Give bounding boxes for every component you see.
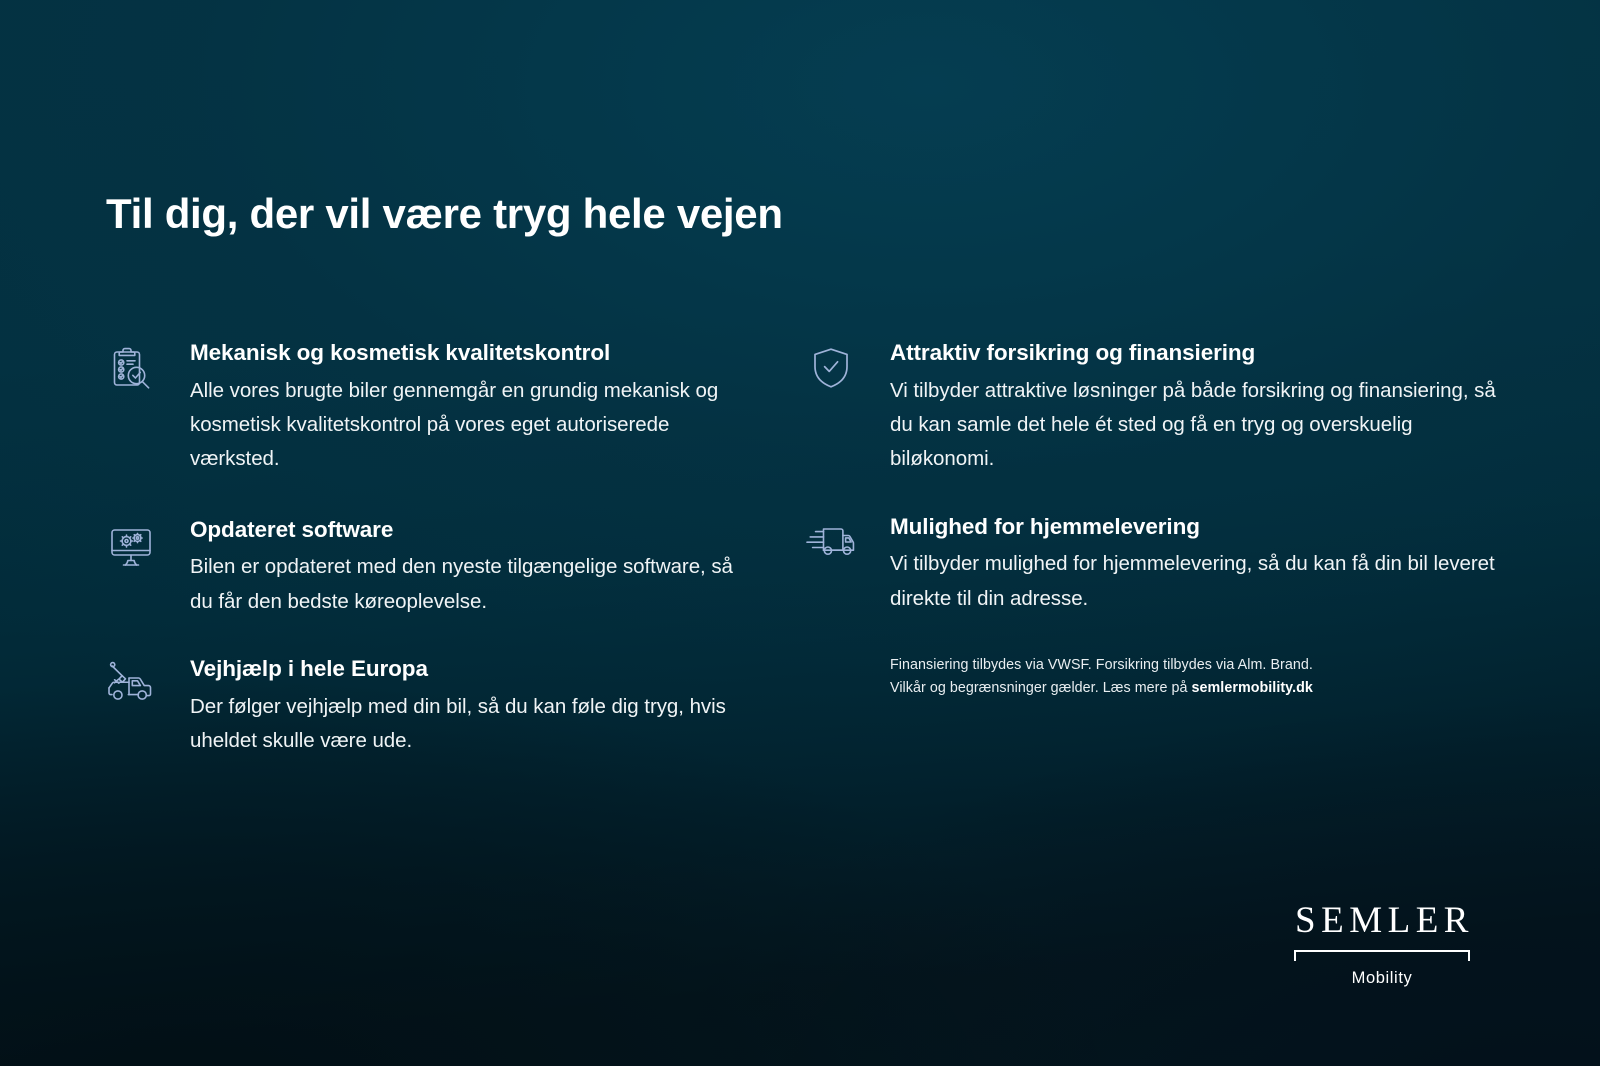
right-feature-column: Attraktiv forsikring og finansiering Vi … bbox=[800, 340, 1500, 701]
left-feature-column: Mekanisk og kosmetisk kvalitetskontrol A… bbox=[100, 340, 740, 797]
shield-check-icon bbox=[800, 340, 862, 396]
logo-wordmark: SEMLER bbox=[1282, 902, 1482, 939]
semler-mobility-logo: SEMLER Mobility bbox=[1282, 902, 1482, 988]
feature-item: Opdateret software Bilen er opdateret me… bbox=[100, 517, 740, 619]
disclaimer-line-1: Finansiering tilbydes via VWSF. Forsikri… bbox=[890, 657, 1313, 673]
feature-title: Mekanisk og kosmetisk kvalitetskontrol bbox=[190, 340, 740, 367]
feature-title: Opdateret software bbox=[190, 517, 740, 544]
feature-description: Bilen er opdateret med den nyeste tilgæn… bbox=[190, 550, 740, 619]
feature-title: Mulighed for hjemmelevering bbox=[890, 514, 1500, 541]
feature-description: Alle vores brugte biler gennemgår en gru… bbox=[190, 374, 740, 477]
monitor-gears-icon bbox=[100, 517, 162, 573]
feature-description: Der følger vejhjælp med din bil, så du k… bbox=[190, 690, 740, 759]
page-title: Til dig, der vil være tryg hele vejen bbox=[106, 190, 783, 238]
semlermobility-link[interactable]: semlermobility.dk bbox=[1192, 680, 1313, 696]
feature-item: Attraktiv forsikring og finansiering Vi … bbox=[800, 340, 1500, 477]
slide-canvas: Til dig, der vil være tryg hele vejen bbox=[0, 0, 1600, 1066]
delivery-truck-icon bbox=[800, 514, 862, 570]
legal-disclaimer: Finansiering tilbydes via VWSF. Forsikri… bbox=[890, 654, 1410, 700]
feature-item: Mekanisk og kosmetisk kvalitetskontrol A… bbox=[100, 340, 740, 477]
feature-description: Vi tilbyder attraktive løsninger på både… bbox=[890, 374, 1500, 477]
feature-item: Vejhjælp i hele Europa Der følger vejhjæ… bbox=[100, 656, 740, 758]
clipboard-check-magnifier-icon bbox=[100, 340, 162, 396]
feature-item: Mulighed for hjemmelevering Vi tilbyder … bbox=[800, 514, 1500, 616]
logo-divider bbox=[1294, 950, 1470, 961]
logo-subtitle: Mobility bbox=[1282, 969, 1482, 988]
tow-truck-icon bbox=[100, 656, 162, 712]
feature-title: Vejhjælp i hele Europa bbox=[190, 656, 740, 683]
feature-title: Attraktiv forsikring og finansiering bbox=[890, 340, 1500, 367]
feature-description: Vi tilbyder mulighed for hjemmelevering,… bbox=[890, 547, 1500, 616]
disclaimer-line-2-prefix: Vilkår og begrænsninger gælder. Læs mere… bbox=[890, 680, 1192, 696]
